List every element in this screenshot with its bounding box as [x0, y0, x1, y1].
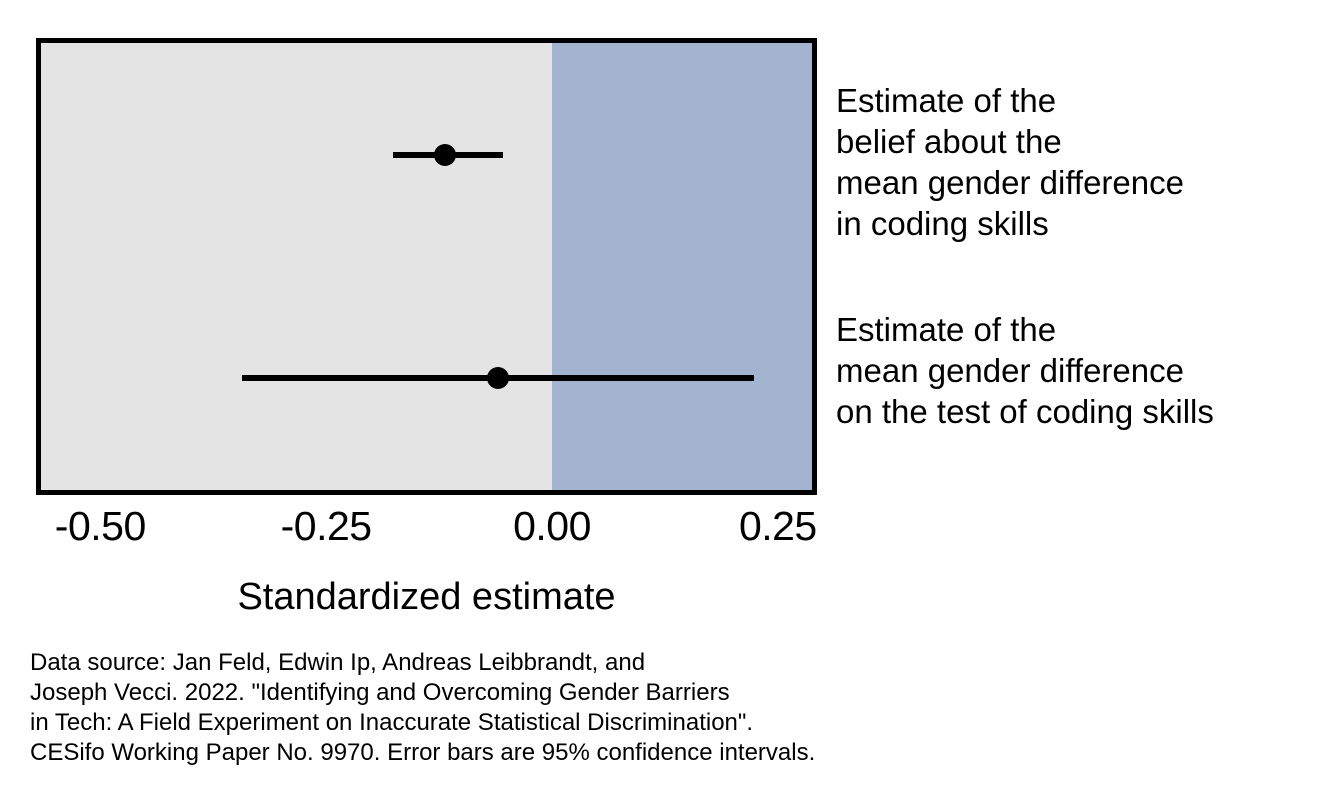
source-caption: Data source: Jan Feld, Edwin Ip, Andreas… [30, 648, 815, 768]
x-tick-label-2: 0.00 [513, 503, 591, 549]
estimate-point-row-1 [487, 367, 509, 389]
x-tick-label-1: -0.25 [281, 503, 372, 549]
x-tick-label-0: -0.50 [55, 503, 146, 549]
estimate-point-row-0 [434, 144, 456, 166]
positive-region-shading [552, 43, 812, 490]
x-axis-title: Standardized estimate [36, 574, 817, 620]
row-label-belief-estimate: Estimate of the belief about the mean ge… [836, 80, 1184, 244]
forest-plot-figure: -0.50 -0.25 0.00 0.25 Standardized estim… [0, 0, 1344, 806]
plot-panel [36, 38, 817, 495]
x-tick-label-3: 0.25 [739, 503, 817, 549]
row-label-test-estimate: Estimate of the mean gender difference o… [836, 309, 1214, 432]
